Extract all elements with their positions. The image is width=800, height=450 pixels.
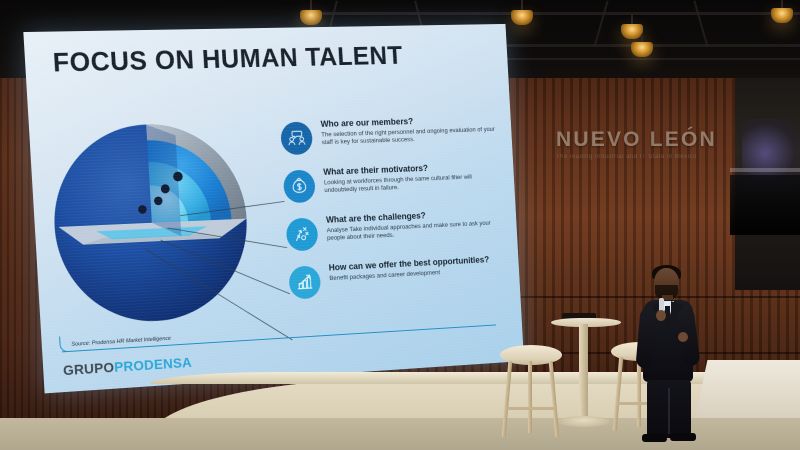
stool-rung — [506, 407, 556, 410]
presenter-hand — [678, 332, 688, 342]
strategy-playbook-icon — [286, 217, 319, 251]
sign-subtitle-text: The leading industrial and IT State in M… — [556, 154, 776, 160]
high-table-base — [558, 416, 610, 427]
key-questions-list: Who are our members? The selection of th… — [280, 114, 514, 313]
presenter-leg-seam — [668, 388, 670, 434]
people-talking-icon — [280, 121, 313, 155]
far-balcony-rail — [730, 168, 800, 172]
stage-spotlight — [300, 10, 322, 25]
far-audience-silhouette — [730, 175, 800, 235]
bar-stool — [500, 345, 562, 440]
money-bag-icon — [283, 169, 316, 203]
presenter — [632, 268, 704, 438]
logo-prodensa-text: PRODENSA — [114, 354, 193, 375]
stage-spotlight — [511, 10, 533, 25]
stool-leg — [549, 361, 560, 437]
list-item[interactable]: How can we offer the best opportunities?… — [288, 254, 514, 314]
lighting-truss — [300, 12, 800, 15]
slide-surface: FOCUS ON HUMAN TALENT — [23, 24, 524, 393]
presenter-shoe — [642, 434, 667, 442]
list-item-text: Who are our members? The selection of th… — [320, 114, 499, 148]
presenter-shoe — [670, 433, 696, 441]
stage-spotlight — [631, 42, 653, 57]
conference-stage-photo: FOCUS ON HUMAN TALENT — [0, 0, 800, 450]
stool-leg — [528, 361, 532, 433]
stage-spotlight — [621, 24, 643, 39]
logo-grupo-text: GRUPO — [63, 359, 115, 378]
sign-main-text: NUEVO LEÓN — [556, 128, 776, 152]
stool-leg — [613, 357, 623, 431]
prodensa-logo: GRUPOPRODENSA — [63, 354, 193, 378]
slide-title: FOCUS ON HUMAN TALENT — [52, 41, 403, 79]
stage-spotlight — [771, 8, 793, 23]
list-item[interactable]: Who are our members? The selection of th… — [280, 114, 506, 169]
list-item-text: What are their motivators? Looking at wo… — [323, 161, 502, 197]
nuevo-leon-wall-sign: NUEVO LEÓN The leading industrial and IT… — [556, 128, 776, 160]
cutaway-sphere-diagram — [46, 103, 298, 349]
projection-screen: FOCUS ON HUMAN TALENT — [23, 24, 524, 393]
growth-chart-icon — [288, 265, 321, 299]
high-table-stem — [579, 324, 588, 422]
stool-leg — [502, 361, 513, 437]
presenter-hand — [656, 310, 666, 321]
